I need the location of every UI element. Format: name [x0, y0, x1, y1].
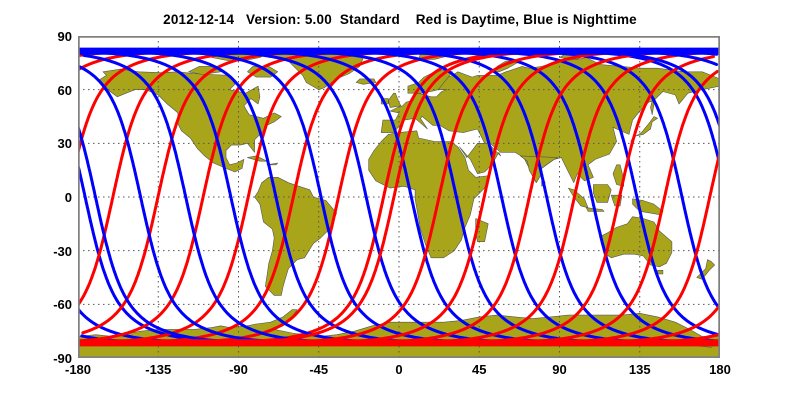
x-tick-label--180: -180 [48, 363, 108, 376]
landmass-tasmania [658, 270, 663, 274]
x-tick-label--135: -135 [128, 363, 188, 376]
ground-track-figure: 2012-12-14 Version: 5.00 Standard Red is… [0, 0, 800, 400]
map-plot-area [78, 36, 720, 358]
x-tick-label-135: 135 [610, 363, 670, 376]
x-tick-label-45: 45 [449, 363, 509, 376]
x-tick-label-90: 90 [530, 363, 590, 376]
x-tick-label-0: 0 [369, 363, 429, 376]
x-tick-label--45: -45 [289, 363, 349, 376]
x-tick-label-180: 180 [690, 363, 750, 376]
x-tick-label--90: -90 [209, 363, 269, 376]
landmass-borneo [593, 185, 611, 203]
ground-track-map [78, 36, 720, 358]
